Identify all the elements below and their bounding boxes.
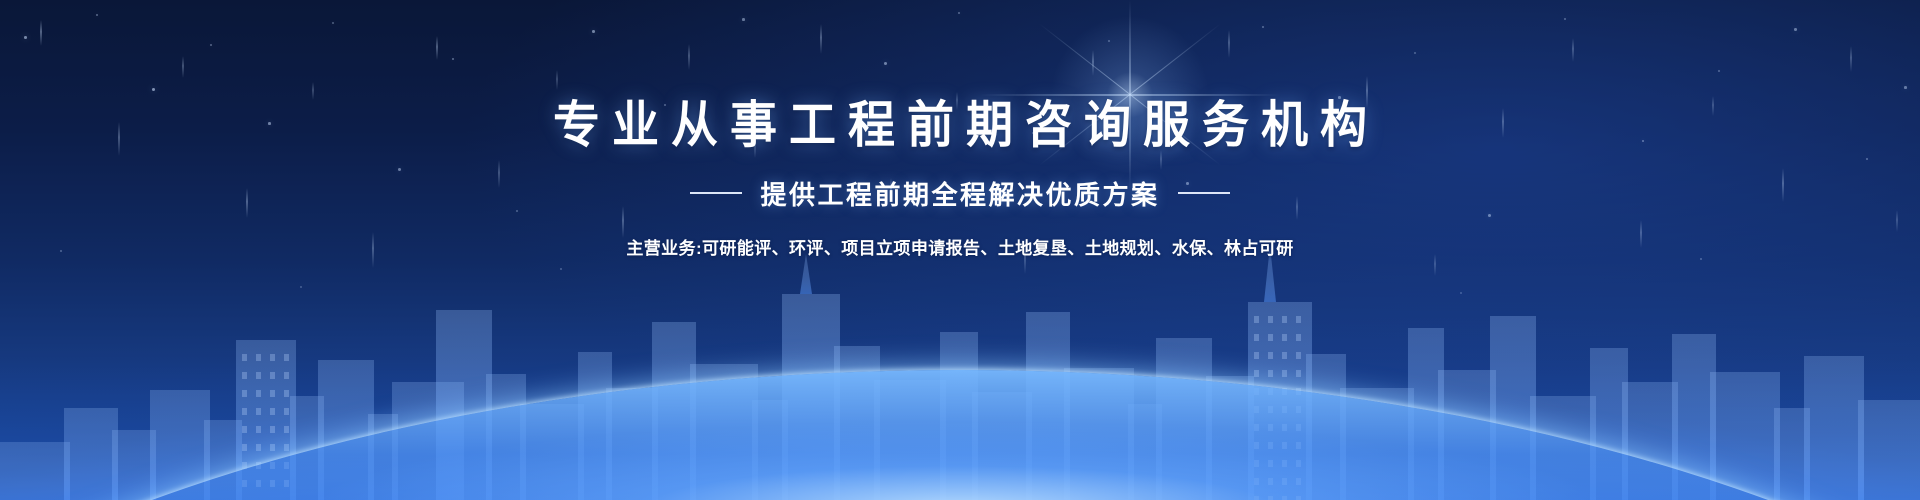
building-window — [270, 390, 275, 397]
building-window — [284, 480, 289, 487]
building — [874, 380, 946, 500]
building-window — [1254, 496, 1259, 500]
building — [204, 420, 242, 500]
building-window — [1296, 496, 1301, 500]
building-window — [1282, 478, 1287, 485]
building-window — [1268, 460, 1273, 467]
building-window — [1282, 424, 1287, 431]
building-window — [1296, 316, 1301, 323]
light-streak — [1850, 46, 1852, 72]
star-dot — [560, 268, 562, 270]
building — [1858, 400, 1920, 500]
building-window — [242, 390, 247, 397]
building-window — [242, 408, 247, 415]
light-streak — [820, 24, 822, 54]
building-window — [270, 354, 275, 361]
building — [690, 364, 758, 500]
horizon-glow-core — [210, 388, 1710, 500]
star-dot — [1460, 292, 1462, 294]
star-dot — [1904, 86, 1907, 89]
star-dot — [452, 58, 454, 60]
building-window — [1282, 334, 1287, 341]
building-window — [1282, 352, 1287, 359]
building-window — [256, 462, 261, 469]
light-streak — [1092, 50, 1094, 76]
building — [1590, 348, 1628, 500]
building-window — [1296, 352, 1301, 359]
building-window — [256, 390, 261, 397]
building-window — [242, 480, 247, 487]
building-window — [1296, 334, 1301, 341]
building-window — [284, 372, 289, 379]
subtitle-row: 提供工程前期全程解决优质方案 — [0, 175, 1920, 212]
building — [150, 390, 210, 500]
star-dot — [332, 22, 334, 24]
building-window — [256, 408, 261, 415]
building-window — [256, 444, 261, 451]
building-window — [1254, 388, 1259, 395]
business-scope-text: 主营业务:可研能评、环评、项目立项申请报告、土地复垦、土地规划、水保、林占可研 — [0, 234, 1920, 259]
building-window — [284, 444, 289, 451]
building — [486, 374, 526, 500]
building-window — [270, 480, 275, 487]
light-streak — [1572, 38, 1574, 62]
star-dot — [210, 44, 212, 46]
building-window — [242, 372, 247, 379]
building-window — [1296, 424, 1301, 431]
star-dot — [1794, 28, 1797, 31]
light-streak — [436, 36, 438, 60]
building-window — [284, 354, 289, 361]
building-window — [1254, 352, 1259, 359]
star-dot — [742, 18, 745, 21]
building — [1672, 334, 1716, 500]
building-window — [1296, 370, 1301, 377]
building-window — [284, 426, 289, 433]
building — [290, 396, 324, 500]
building — [1026, 312, 1070, 500]
building-window — [270, 426, 275, 433]
building-window — [256, 480, 261, 487]
building-window — [1268, 442, 1273, 449]
building-window — [1268, 370, 1273, 377]
light-streak — [688, 44, 690, 70]
building — [606, 388, 658, 500]
building — [1408, 328, 1444, 500]
building — [652, 322, 696, 500]
building-window — [1296, 460, 1301, 467]
building — [392, 382, 464, 500]
building-window — [242, 354, 247, 361]
building-window — [1282, 460, 1287, 467]
star-dot — [1564, 18, 1566, 20]
building — [64, 408, 118, 500]
page-title: 专业从事工程前期咨询服务机构 — [0, 94, 1920, 156]
hero-banner: 专业从事工程前期咨询服务机构 提供工程前期全程解决优质方案 主营业务:可研能评、… — [0, 0, 1920, 500]
building-window — [1282, 316, 1287, 323]
building — [1206, 376, 1254, 500]
building — [436, 310, 492, 500]
building-window — [1268, 388, 1273, 395]
building-window — [1254, 316, 1259, 323]
building — [972, 392, 1032, 500]
star-dot — [958, 12, 960, 14]
star-dot — [592, 30, 595, 33]
page-subtitle: 提供工程前期全程解决优质方案 — [760, 175, 1159, 212]
building-window — [1254, 442, 1259, 449]
hero-text-block: 专业从事工程前期咨询服务机构 提供工程前期全程解决优质方案 主营业务:可研能评、… — [0, 96, 1920, 259]
building-window — [1268, 478, 1273, 485]
building — [1490, 316, 1536, 500]
star-dot — [24, 36, 27, 39]
building — [236, 340, 296, 500]
building — [520, 404, 584, 500]
building-window — [284, 408, 289, 415]
building-window — [1268, 316, 1273, 323]
star-dot — [152, 88, 155, 91]
star-dot — [1262, 26, 1264, 28]
building-window — [1282, 406, 1287, 413]
building-window — [1268, 424, 1273, 431]
star-dot — [884, 62, 887, 65]
building-window — [1268, 406, 1273, 413]
star-dot — [1108, 40, 1110, 42]
rule-left-icon — [690, 192, 742, 194]
light-streak — [182, 56, 184, 78]
building-window — [1296, 442, 1301, 449]
building — [1774, 408, 1810, 500]
horizon-glow-arc — [0, 370, 1920, 500]
building — [1128, 404, 1162, 500]
building-spire — [800, 254, 812, 294]
building — [1248, 302, 1312, 500]
building-window — [1282, 370, 1287, 377]
building — [940, 332, 978, 500]
building-window — [270, 444, 275, 451]
building-window — [242, 444, 247, 451]
building-window — [1268, 334, 1273, 341]
building-window — [1254, 370, 1259, 377]
building-window — [1268, 352, 1273, 359]
light-streak — [40, 20, 42, 46]
building — [112, 430, 156, 500]
building-window — [256, 426, 261, 433]
star-dot — [1718, 70, 1720, 72]
building — [1156, 338, 1212, 500]
building — [1340, 388, 1414, 500]
building — [368, 414, 398, 500]
building — [1306, 354, 1346, 500]
building-window — [242, 462, 247, 469]
building — [1622, 382, 1678, 500]
building — [578, 352, 612, 500]
building-window — [1268, 496, 1273, 500]
building-window — [1254, 460, 1259, 467]
building — [834, 346, 880, 500]
star-dot — [96, 14, 98, 16]
building-window — [1296, 406, 1301, 413]
star-dot — [1414, 52, 1416, 54]
light-streak — [556, 70, 558, 90]
light-streak — [1228, 30, 1230, 58]
building-window — [1254, 334, 1259, 341]
building — [1438, 370, 1496, 500]
building-window — [242, 426, 247, 433]
building-window — [270, 462, 275, 469]
building — [318, 360, 374, 500]
building — [1530, 396, 1596, 500]
building-window — [284, 390, 289, 397]
building — [752, 400, 788, 500]
building — [782, 294, 840, 500]
building — [1064, 368, 1134, 500]
building — [1710, 372, 1780, 500]
rule-right-icon — [1178, 192, 1230, 194]
building-window — [270, 408, 275, 415]
building-window — [284, 462, 289, 469]
building-window — [1254, 406, 1259, 413]
city-skyline — [0, 240, 1920, 500]
building-window — [1296, 388, 1301, 395]
building-window — [256, 354, 261, 361]
building-window — [256, 372, 261, 379]
building — [1804, 356, 1864, 500]
building — [0, 442, 70, 500]
building-window — [1282, 388, 1287, 395]
building-window — [1282, 496, 1287, 500]
building-window — [270, 372, 275, 379]
building-window — [1296, 478, 1301, 485]
star-dot — [300, 286, 302, 288]
building-window — [1254, 478, 1259, 485]
building-window — [1282, 442, 1287, 449]
building-window — [1254, 424, 1259, 431]
